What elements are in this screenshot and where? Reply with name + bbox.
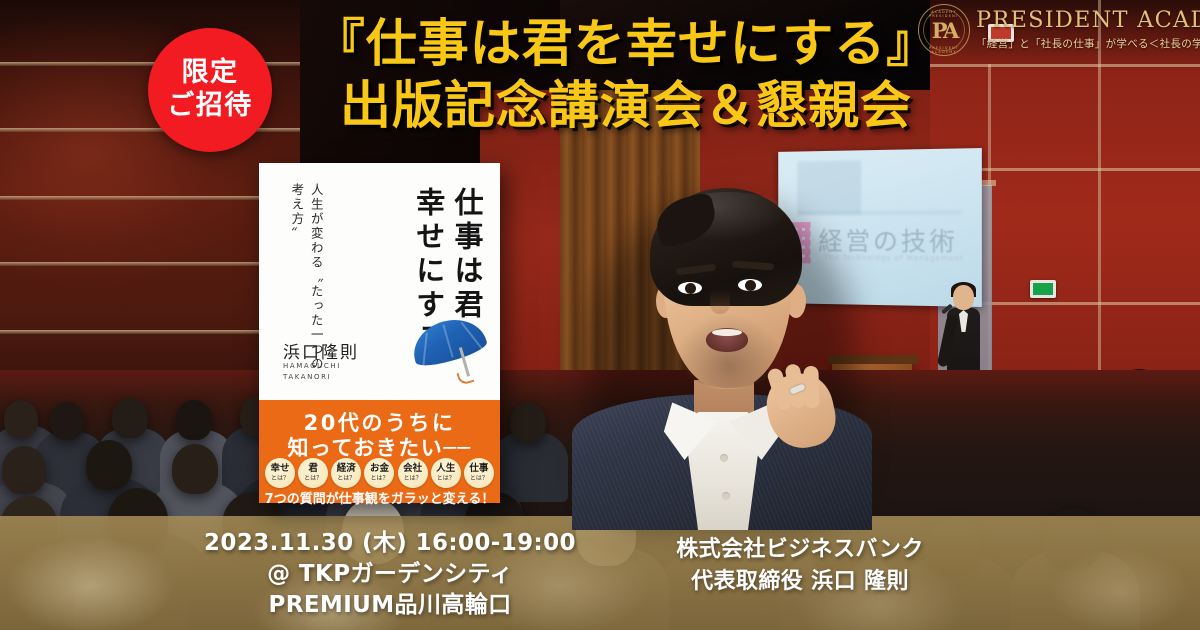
obi-circle-suffix: とは？ bbox=[337, 476, 355, 482]
obi-circle-word: 君 bbox=[308, 464, 318, 474]
emergency-exit-icon bbox=[1030, 280, 1056, 298]
speaker-company: 株式会社ビジネスバンク bbox=[600, 534, 1000, 566]
emblem-monogram: PA bbox=[919, 5, 969, 55]
obi-circle-suffix: とは？ bbox=[470, 476, 488, 482]
logo-tagline: 「経営」と「社長の仕事」が学べる＜社長の学校＞ bbox=[976, 36, 1200, 51]
umbrella-icon bbox=[411, 315, 489, 377]
obi-line-3: 7つの質問が仕事観をガラッと変える！ bbox=[259, 488, 500, 507]
event-details: 2023.11.30 (木) 16:00-19:00 @ TKPガーデンシティ … bbox=[180, 528, 600, 621]
book-author-romaji-line2: TAKANORI bbox=[283, 372, 341, 383]
limited-invitation-badge: 限定 ご招待 bbox=[148, 28, 272, 152]
obi-circle-word: 会社 bbox=[403, 464, 422, 474]
title-line-2: 出版記念講演会＆懇親会 bbox=[246, 80, 1006, 134]
obi-circle-word: お金 bbox=[370, 464, 389, 474]
obi-circle-word: 人生 bbox=[436, 464, 455, 474]
president-academy-logo[interactable]: ACADEMY PRESIDENT PRESIDENT ACADEMY PA P… bbox=[918, 2, 1196, 58]
badge-line-1: 限定 bbox=[182, 57, 239, 90]
book-cover: 人生が変わる〝たった一つの考え方〟 仕事は君を幸せにする 浜口隆則 HAMAGU… bbox=[259, 163, 500, 503]
title-line-1: 『仕事は君を幸せにする』 bbox=[246, 18, 1006, 72]
obi-circle: 君 とは？ bbox=[298, 458, 328, 488]
obi-circle: 幸せ とは？ bbox=[265, 458, 295, 488]
obi-circle-word: 幸せ bbox=[270, 464, 289, 474]
logo-name: PRESIDENT ACADEMY bbox=[976, 9, 1200, 32]
event-banner: 経営の技術 The Technology of Management bbox=[0, 0, 1200, 630]
obi-circle: 経済 とは？ bbox=[331, 458, 361, 488]
obi-circle-suffix: とは？ bbox=[437, 476, 455, 482]
academy-emblem-icon: ACADEMY PRESIDENT PRESIDENT ACADEMY PA bbox=[918, 4, 970, 56]
eye-right bbox=[738, 279, 762, 291]
obi-circle: 仕事 とは？ bbox=[464, 458, 494, 488]
event-venue-line-1: @ TKPガーデンシティ bbox=[180, 559, 600, 590]
speaker-details: 株式会社ビジネスバンク 代表取締役 浜口 隆則 bbox=[600, 534, 1000, 598]
obi-circle: 人生 とは？ bbox=[431, 458, 461, 488]
speaker-portrait bbox=[572, 162, 872, 530]
book-obi-band: 20代のうちに 知っておきたい── 幸せ とは？ 君 とは？ 経済 とは？ お金… bbox=[259, 400, 500, 503]
obi-circle-suffix: とは？ bbox=[304, 476, 322, 482]
obi-circle-suffix: とは？ bbox=[370, 476, 388, 482]
obi-question-circles: 幸せ とは？ 君 とは？ 経済 とは？ お金 とは？ 会社 とは？ bbox=[265, 458, 494, 488]
obi-circle: お金 とは？ bbox=[364, 458, 394, 488]
book-author-romaji-line1: HAMAGUCHI bbox=[283, 361, 341, 372]
obi-circle: 会社 とは？ bbox=[398, 458, 428, 488]
speaker-title-name: 代表取締役 浜口 隆則 bbox=[600, 566, 1000, 598]
obi-circle-word: 仕事 bbox=[469, 464, 488, 474]
event-title: 『仕事は君を幸せにする』 出版記念講演会＆懇親会 bbox=[246, 18, 1006, 133]
book-author: 浜口隆則 bbox=[283, 338, 359, 363]
obi-circle-suffix: とは？ bbox=[271, 476, 289, 482]
obi-circle-suffix: とは？ bbox=[404, 476, 422, 482]
eye-left bbox=[678, 282, 702, 294]
obi-circle-word: 経済 bbox=[337, 464, 356, 474]
book-cover-front: 人生が変わる〝たった一つの考え方〟 仕事は君を幸せにする 浜口隆則 HAMAGU… bbox=[259, 163, 500, 400]
badge-line-2: ご招待 bbox=[167, 90, 253, 123]
book-author-romaji: HAMAGUCHI TAKANORI bbox=[283, 361, 341, 382]
event-venue-line-2: PREMIUM品川高輪口 bbox=[180, 590, 600, 621]
event-date-time: 2023.11.30 (木) 16:00-19:00 bbox=[180, 528, 600, 559]
